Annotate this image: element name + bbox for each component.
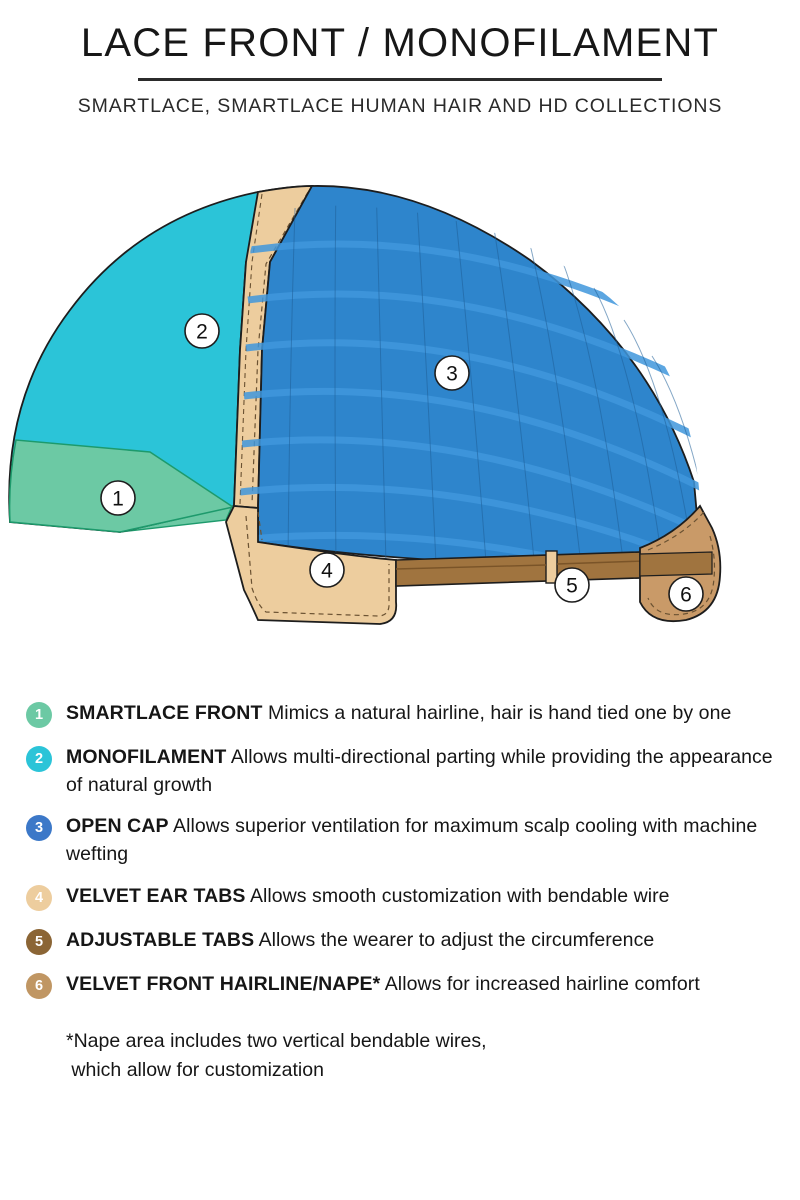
callout-6: 6 (669, 577, 703, 611)
legend-badge-4: 4 (26, 885, 52, 911)
legend-term-3: OPEN CAP (66, 815, 169, 837)
callout-4: 4 (310, 553, 344, 587)
legend-text-4: VELVET EAR TABS Allows smooth customizat… (66, 885, 670, 907)
callout-4-number: 4 (321, 560, 333, 583)
legend-item-velvet-ear-tabs: 4 VELVET EAR TABS Allows smooth customiz… (0, 883, 800, 913)
page-subtitle: SMARTLACE, SMARTLACE HUMAN HAIR AND HD C… (0, 81, 800, 118)
legend-item-smartlace-front: 1 SMARTLACE FRONT Mimics a natural hairl… (0, 700, 800, 730)
legend-footnote: *Nape area includes two vertical bendabl… (0, 1027, 800, 1086)
wig-cap-construction-diagram: 1 2 3 4 5 6 (0, 150, 800, 680)
legend-item-open-cap: 3 OPEN CAP Allows superior ventilation f… (0, 813, 800, 868)
legend-term-6: VELVET FRONT HAIRLINE/NAPE* (66, 973, 380, 995)
legend-term-2: MONOFILAMENT (66, 746, 226, 768)
legend-text-3: OPEN CAP Allows superior ventilation for… (66, 815, 757, 865)
legend-badge-1: 1 (26, 702, 52, 728)
callout-1: 1 (101, 481, 135, 515)
callout-2-number: 2 (196, 321, 208, 344)
legend-desc-1: Mimics a natural hairline, hair is hand … (262, 702, 731, 724)
legend-term-1: SMARTLACE FRONT (66, 702, 262, 724)
legend-badge-3: 3 (26, 815, 52, 841)
legend-desc-3: Allows superior ventilation for maximum … (66, 815, 757, 865)
page-header: LACE FRONT / MONOFILAMENT SMARTLACE, SMA… (0, 0, 800, 118)
legend-item-velvet-front-hairline-nape: 6 VELVET FRONT HAIRLINE/NAPE* Allows for… (0, 971, 800, 1001)
legend-text-1: SMARTLACE FRONT Mimics a natural hairlin… (66, 702, 731, 724)
callout-3: 3 (435, 356, 469, 390)
legend-text-2: MONOFILAMENT Allows multi-directional pa… (66, 746, 773, 796)
legend-item-adjustable-tabs: 5 ADJUSTABLE TABS Allows the wearer to a… (0, 927, 800, 957)
callout-3-number: 3 (446, 363, 458, 386)
legend-badge-6: 6 (26, 973, 52, 999)
legend-desc-5: Allows the wearer to adjust the circumfe… (254, 929, 654, 951)
legend-term-5: ADJUSTABLE TABS (66, 929, 254, 951)
callout-6-number: 6 (680, 584, 692, 607)
region-open-cap (238, 178, 716, 602)
legend-badge-2: 2 (26, 746, 52, 772)
legend-text-6: VELVET FRONT HAIRLINE/NAPE* Allows for i… (66, 973, 700, 995)
legend-text-5: ADJUSTABLE TABS Allows the wearer to adj… (66, 929, 654, 951)
legend-badge-5: 5 (26, 929, 52, 955)
legend-desc-4: Allows smooth customization with bendabl… (246, 885, 670, 907)
legend-list: 1 SMARTLACE FRONT Mimics a natural hairl… (0, 700, 800, 1085)
legend-term-4: VELVET EAR TABS (66, 885, 246, 907)
page-title: LACE FRONT / MONOFILAMENT (0, 0, 800, 64)
legend-item-monofilament: 2 MONOFILAMENT Allows multi-directional … (0, 744, 800, 799)
footnote-line-1: *Nape area includes two vertical bendabl… (66, 1027, 776, 1056)
cap-diagram-container: 1 2 3 4 5 6 (0, 150, 800, 680)
callout-5: 5 (555, 568, 589, 602)
callout-2: 2 (185, 314, 219, 348)
legend-desc-6: Allows for increased hairline comfort (380, 973, 699, 995)
footnote-line-2: which allow for customization (66, 1056, 776, 1085)
callout-5-number: 5 (566, 575, 578, 598)
callout-1-number: 1 (112, 488, 124, 511)
